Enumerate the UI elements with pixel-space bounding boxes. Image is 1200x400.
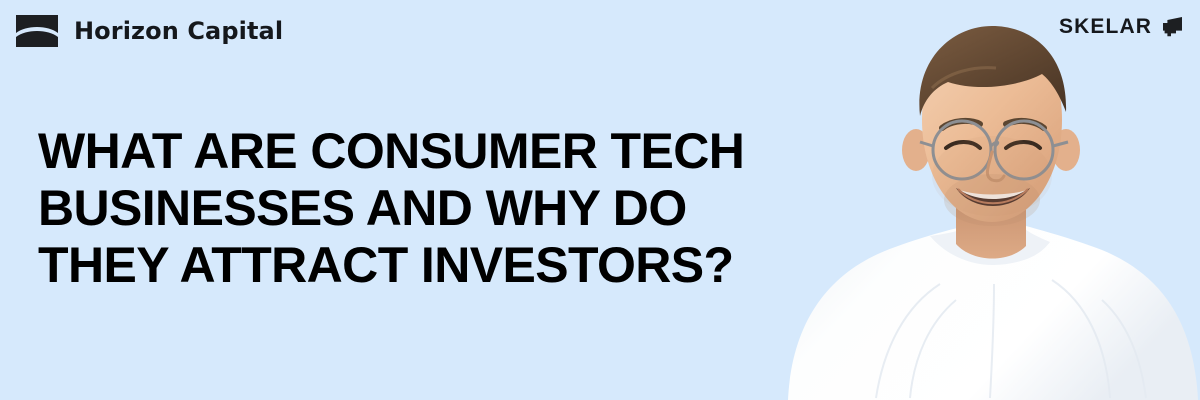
arc-square-logo-icon — [14, 13, 60, 49]
headline-line-1: WHAT ARE CONSUMER TECH — [38, 123, 818, 180]
partner-lockup[interactable]: SKELAR — [1059, 16, 1182, 37]
brand-name: Horizon Capital — [74, 19, 283, 43]
skelar-flag-icon — [1163, 17, 1182, 37]
portrait-photo — [780, 0, 1200, 400]
headline-line-2: BUSINESSES AND WHY DO — [38, 180, 818, 237]
promo-banner: Horizon Capital SKELAR WHAT ARE CONSUMER… — [0, 0, 1200, 400]
brand-lockup[interactable]: Horizon Capital — [14, 13, 283, 49]
headline-line-3: THEY ATTRACT INVESTORS? — [38, 237, 818, 294]
headline: WHAT ARE CONSUMER TECH BUSINESSES AND WH… — [38, 123, 818, 294]
partner-name: SKELAR — [1059, 16, 1152, 37]
